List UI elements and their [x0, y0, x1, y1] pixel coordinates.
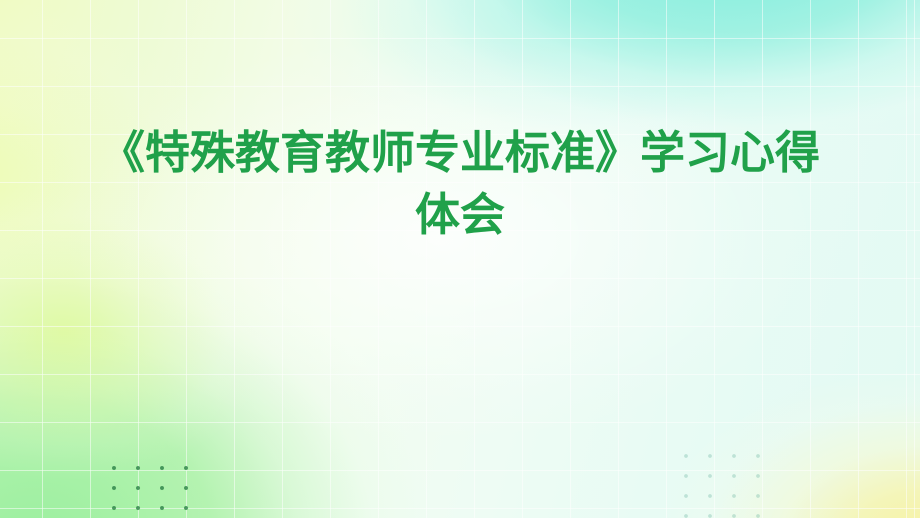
background-aqua-blob	[0, 0, 920, 518]
background-yellow-blob	[0, 0, 920, 518]
background-green-blob	[0, 0, 920, 518]
dot-grid-bottom-left-icon	[112, 466, 200, 518]
page-title: 《特殊教育教师专业标准》学习心得体会	[80, 122, 840, 246]
background-aqua-wisp	[0, 0, 920, 518]
dot-grid-bottom-right-icon	[684, 454, 772, 518]
title-container: 《特殊教育教师专业标准》学习心得体会	[0, 122, 920, 246]
title-slide: 《特殊教育教师专业标准》学习心得体会	[0, 0, 920, 518]
background-white-core	[0, 0, 920, 518]
background-base-gradient	[0, 0, 920, 518]
background-lemon-blob	[0, 0, 920, 518]
background-grid-overlay	[0, 0, 920, 518]
background-lime-highlight	[0, 0, 920, 518]
